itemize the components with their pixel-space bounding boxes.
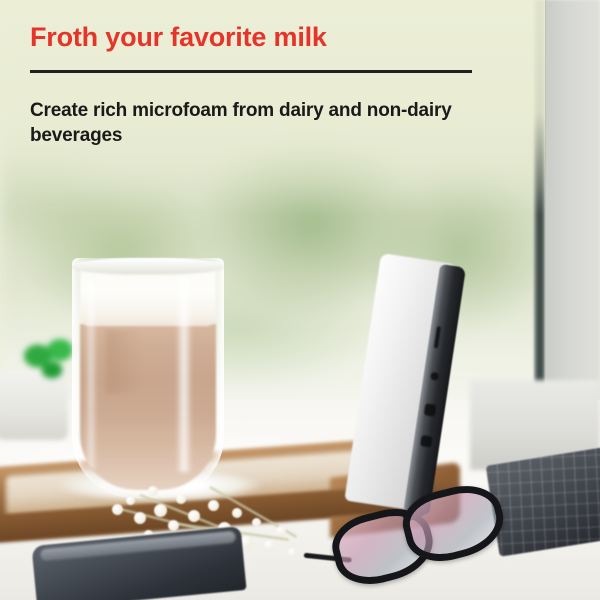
latte-glass xyxy=(72,258,224,498)
tablet-port xyxy=(424,403,437,416)
headline: Froth your favorite milk xyxy=(30,22,327,53)
glass-highlight-left xyxy=(86,280,96,470)
text-overlay: Froth your favorite milk Create rich mic… xyxy=(0,0,600,175)
coffee-streak xyxy=(106,330,156,394)
product-feature-banner: Froth your favorite milk Create rich mic… xyxy=(0,0,600,600)
glass-rim xyxy=(72,258,224,274)
tablet-speaker-port xyxy=(420,435,433,448)
tablet-camera-icon xyxy=(430,372,439,381)
eyeglasses xyxy=(327,479,533,579)
tablet-volume-button xyxy=(434,326,441,348)
subheadline: Create rich microfoam from dairy and non… xyxy=(30,98,500,149)
glass-highlight-right xyxy=(176,276,192,472)
divider-rule xyxy=(30,70,472,73)
